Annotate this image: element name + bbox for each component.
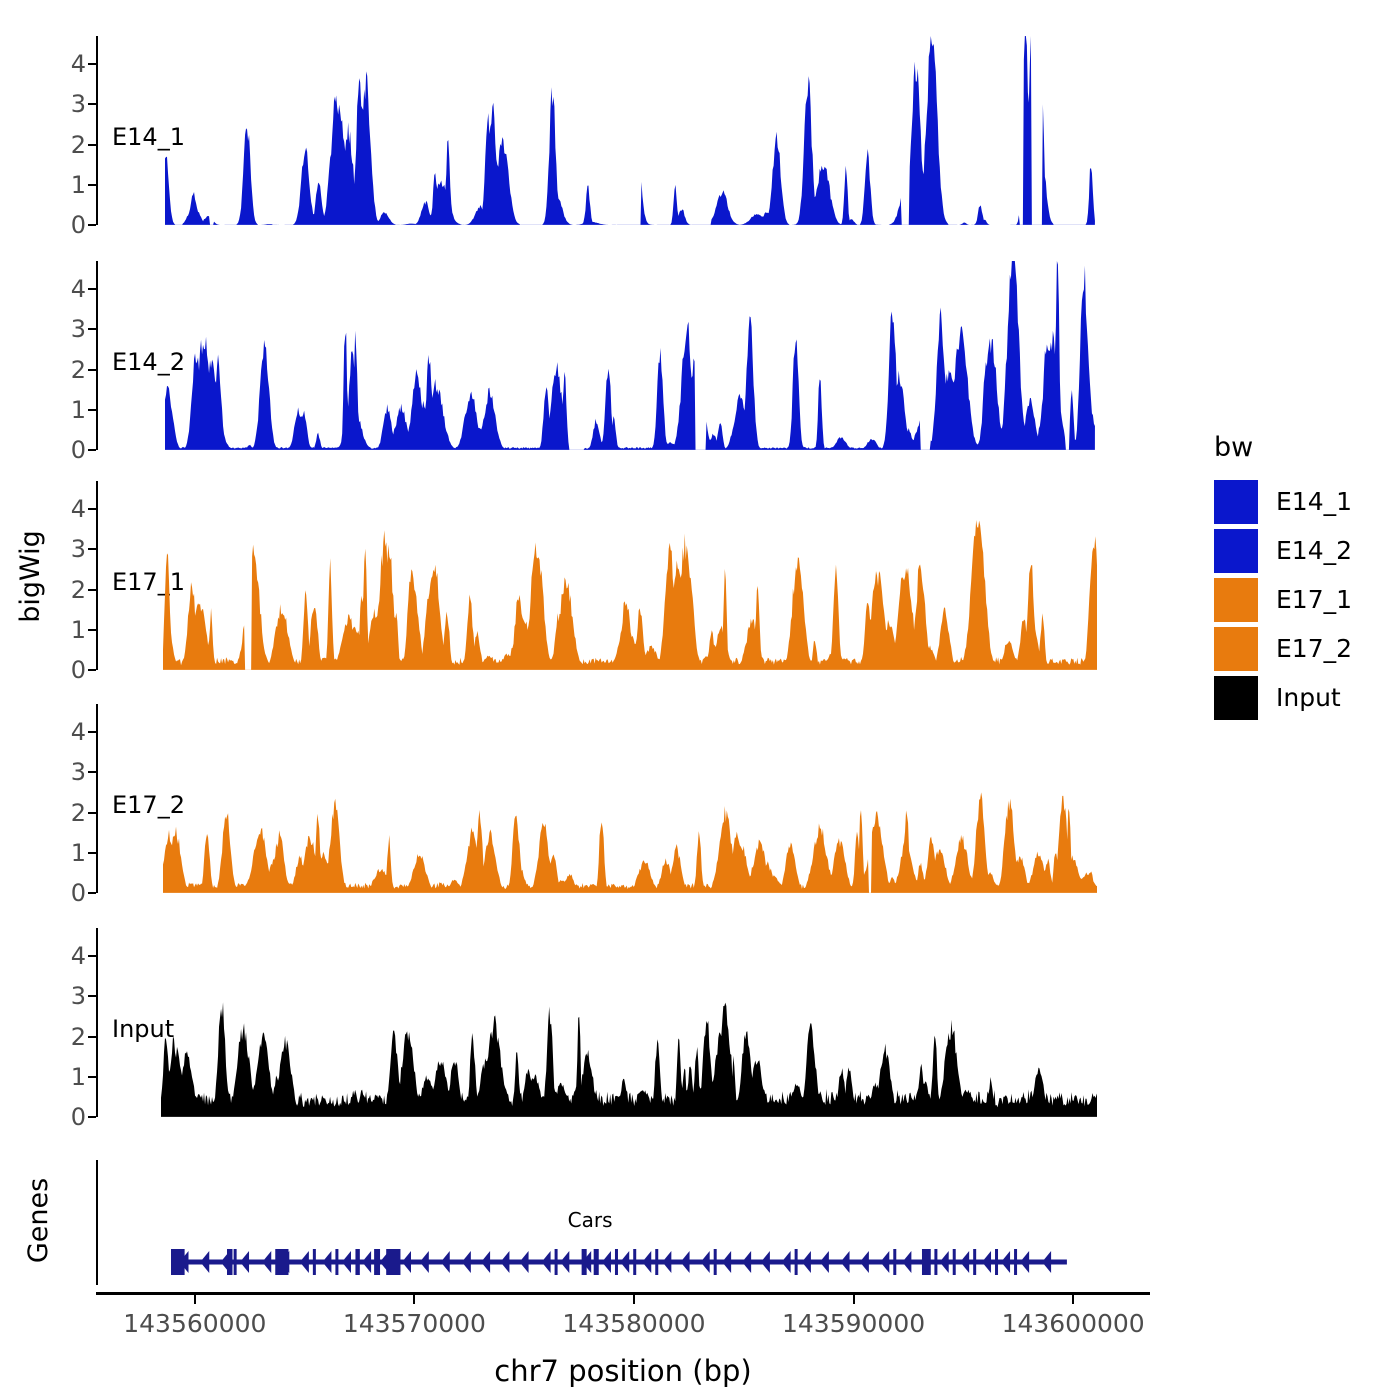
y-tick (88, 1116, 96, 1118)
x-tick (194, 1295, 196, 1304)
legend-item-e14_1[interactable]: E14_1 (1214, 477, 1352, 526)
legend-key-e14_2 (1214, 529, 1258, 573)
signal-panel-e17_1: 01234E17_1 (96, 481, 1150, 670)
x-tick-label: 143600000 (1002, 1309, 1145, 1338)
genome-browser-figure: bigWigGenes01234E14_101234E14_201234E17_… (0, 0, 1400, 1400)
y-axis-line-input (96, 928, 98, 1117)
y-tick (88, 328, 96, 330)
signal-area-e14_2 (165, 261, 1095, 450)
legend-label: E14_2 (1276, 536, 1352, 565)
y-tick (88, 369, 96, 371)
legend-item-e17_2[interactable]: E17_2 (1214, 624, 1352, 673)
y-tick-label: 2 (71, 799, 86, 827)
x-axis-line (96, 1292, 1150, 1295)
y-tick (88, 669, 96, 671)
y-tick (88, 892, 96, 894)
y-tick (88, 224, 96, 226)
y-tick-label: 3 (71, 90, 86, 118)
y-tick-label: 1 (71, 616, 86, 644)
x-tick-label: 143580000 (562, 1309, 705, 1338)
gene-name-label: Cars (568, 1208, 613, 1232)
y-tick-label: 4 (71, 942, 86, 970)
signal-trace-e17_2 (163, 704, 1097, 893)
y-tick (88, 771, 96, 773)
gene-model (171, 1245, 1067, 1279)
y-axis-line-e14_2 (96, 261, 98, 450)
y-tick (88, 995, 96, 997)
y-tick-label: 2 (71, 131, 86, 159)
signal-area-input (161, 928, 1098, 1117)
y-tick-label: 4 (71, 718, 86, 746)
gene-panel: Cars (96, 1160, 1150, 1285)
y-tick (88, 812, 96, 814)
legend-label: E17_2 (1276, 634, 1352, 663)
signal-panel-e14_1: 01234E14_1 (96, 36, 1150, 225)
x-tick (413, 1295, 415, 1304)
y-tick (88, 955, 96, 957)
y-tick-label: 1 (71, 839, 86, 867)
y-axis-line-e14_1 (96, 36, 98, 225)
y-tick (88, 103, 96, 105)
signal-trace-e14_2 (165, 261, 1095, 450)
legend-label: E17_1 (1276, 585, 1352, 614)
y-tick-label: 4 (71, 495, 86, 523)
legend-label: E14_1 (1276, 487, 1352, 516)
signal-area-e14_1 (165, 36, 1095, 225)
legend-item-e14_2[interactable]: E14_2 (1214, 526, 1352, 575)
y-tick-label: 0 (71, 211, 86, 239)
y-tick-label: 0 (71, 1103, 86, 1131)
y-tick-label: 0 (71, 656, 86, 684)
legend-item-input[interactable]: Input (1214, 673, 1352, 722)
y-axis-line-e17_1 (96, 481, 98, 670)
gene-model-svg (171, 1245, 1067, 1279)
y-tick (88, 144, 96, 146)
y-tick (88, 1036, 96, 1038)
y-tick-label: 3 (71, 315, 86, 343)
y-tick (88, 288, 96, 290)
strip-title-genes: Genes (23, 1158, 54, 1283)
y-tick (88, 852, 96, 854)
signal-area-e17_1 (163, 481, 1097, 670)
y-tick-label: 3 (71, 758, 86, 786)
legend-item-e17_1[interactable]: E17_1 (1214, 575, 1352, 624)
y-tick-label: 4 (71, 50, 86, 78)
y-tick (88, 184, 96, 186)
signal-panel-e17_2: 01234E17_2 (96, 704, 1150, 893)
y-tick-label: 0 (71, 879, 86, 907)
y-tick (88, 409, 96, 411)
signal-area-e17_2 (163, 704, 1097, 893)
signal-panel-input: 01234Input (96, 928, 1150, 1117)
y-tick-label: 1 (71, 396, 86, 424)
legend-key-e17_1 (1214, 578, 1258, 622)
y-tick-label: 1 (71, 1063, 86, 1091)
signal-trace-e17_1 (163, 481, 1097, 670)
x-tick (853, 1295, 855, 1304)
x-tick (633, 1295, 635, 1304)
y-tick-label: 2 (71, 356, 86, 384)
x-axis-title: chr7 position (bp) (494, 1354, 751, 1388)
legend-title: bw (1214, 432, 1352, 463)
y-tick (88, 589, 96, 591)
y-tick (88, 63, 96, 65)
y-tick (88, 731, 96, 733)
y-tick (88, 629, 96, 631)
legend: bwE14_1E14_2E17_1E17_2Input (1214, 432, 1352, 722)
y-tick-label: 3 (71, 535, 86, 563)
y-tick-label: 0 (71, 436, 86, 464)
y-tick-label: 3 (71, 982, 86, 1010)
y-tick (88, 449, 96, 451)
y-tick-label: 2 (71, 1023, 86, 1051)
y-tick-label: 4 (71, 275, 86, 303)
x-tick-label: 143590000 (782, 1309, 925, 1338)
signal-trace-e14_1 (165, 36, 1095, 225)
x-tick-label: 143560000 (123, 1309, 266, 1338)
x-tick-label: 143570000 (343, 1309, 486, 1338)
legend-label: Input (1276, 683, 1341, 712)
signal-trace-input (161, 928, 1098, 1117)
x-tick (1072, 1295, 1074, 1304)
y-tick (88, 508, 96, 510)
y-tick-label: 2 (71, 576, 86, 604)
y-axis-line-e17_2 (96, 704, 98, 893)
y-tick-label: 1 (71, 171, 86, 199)
legend-key-e17_2 (1214, 627, 1258, 671)
strip-title-bigwig: bigWig (15, 30, 46, 1123)
legend-key-input (1214, 676, 1258, 720)
gene-axis-line (96, 1160, 98, 1285)
legend-key-e14_1 (1214, 480, 1258, 524)
signal-panel-e14_2: 01234E14_2 (96, 261, 1150, 450)
y-tick (88, 548, 96, 550)
y-tick (88, 1076, 96, 1078)
